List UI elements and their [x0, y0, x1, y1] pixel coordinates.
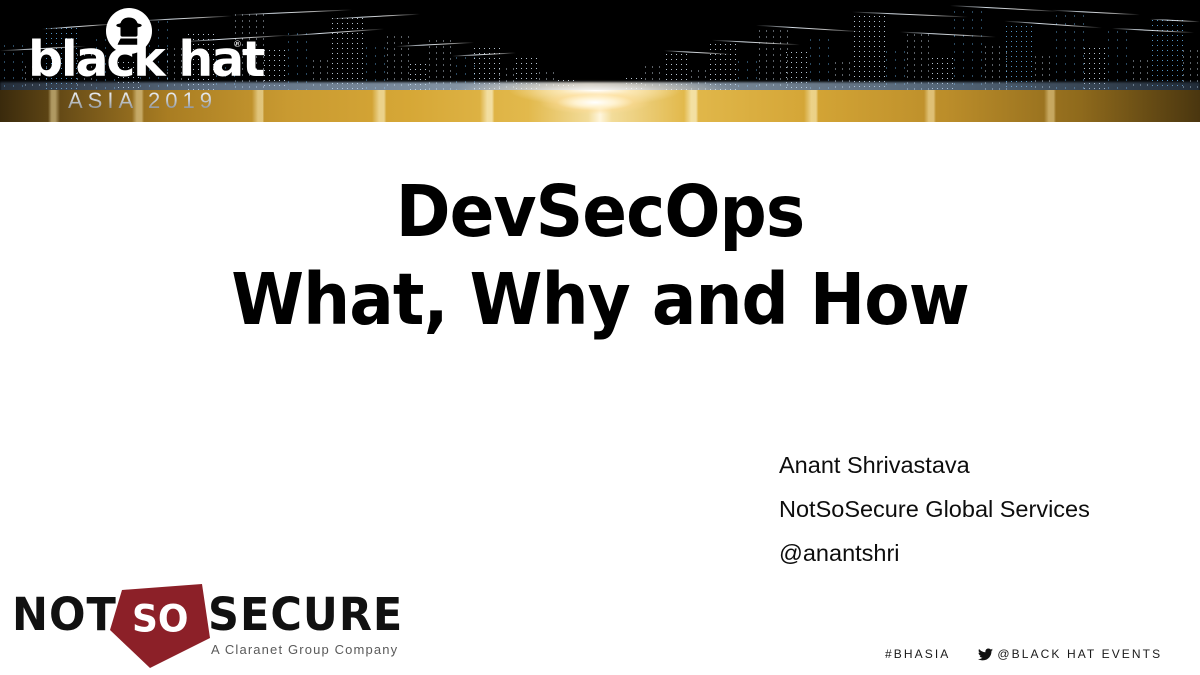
black-hat-wordmark: black hat	[28, 34, 258, 86]
black-hat-logo: black hat ® ASIA 2019	[28, 8, 258, 112]
page-title: DevSecOps What, Why and How	[42, 168, 1158, 344]
author-name: Anant Shrivastava	[779, 443, 1179, 487]
black-hat-banner: black hat ® ASIA 2019	[0, 0, 1200, 122]
logo-tagline: A Claranet Group Company	[211, 642, 398, 657]
registered-trademark-mark: ®	[233, 40, 242, 50]
notsosecure-logo: NOT SO SECURE A Claranet Group Company	[8, 582, 398, 670]
vanishing-point-glow	[525, 82, 665, 116]
author-block: Anant Shrivastava NotSoSecure Global Ser…	[779, 443, 1179, 575]
author-organization: NotSoSecure Global Services	[779, 487, 1179, 531]
footer-twitter-handle: @BLACK HAT EVENTS	[997, 647, 1162, 661]
logo-word-not: NOT	[12, 593, 117, 639]
logo-word-so: SO	[132, 601, 189, 639]
footer-social: #BHASIA @BLACK HAT EVENTS	[885, 644, 1185, 664]
title-line-1: DevSecOps	[396, 170, 804, 253]
footer-hashtag: #BHASIA	[885, 647, 950, 661]
twitter-bird-icon	[978, 648, 993, 661]
author-twitter-handle: @anantshri	[779, 531, 1179, 575]
black-hat-subtitle: ASIA 2019	[68, 88, 268, 114]
logo-word-secure: SECURE	[208, 593, 403, 639]
title-line-2: What, Why and How	[42, 256, 1158, 344]
